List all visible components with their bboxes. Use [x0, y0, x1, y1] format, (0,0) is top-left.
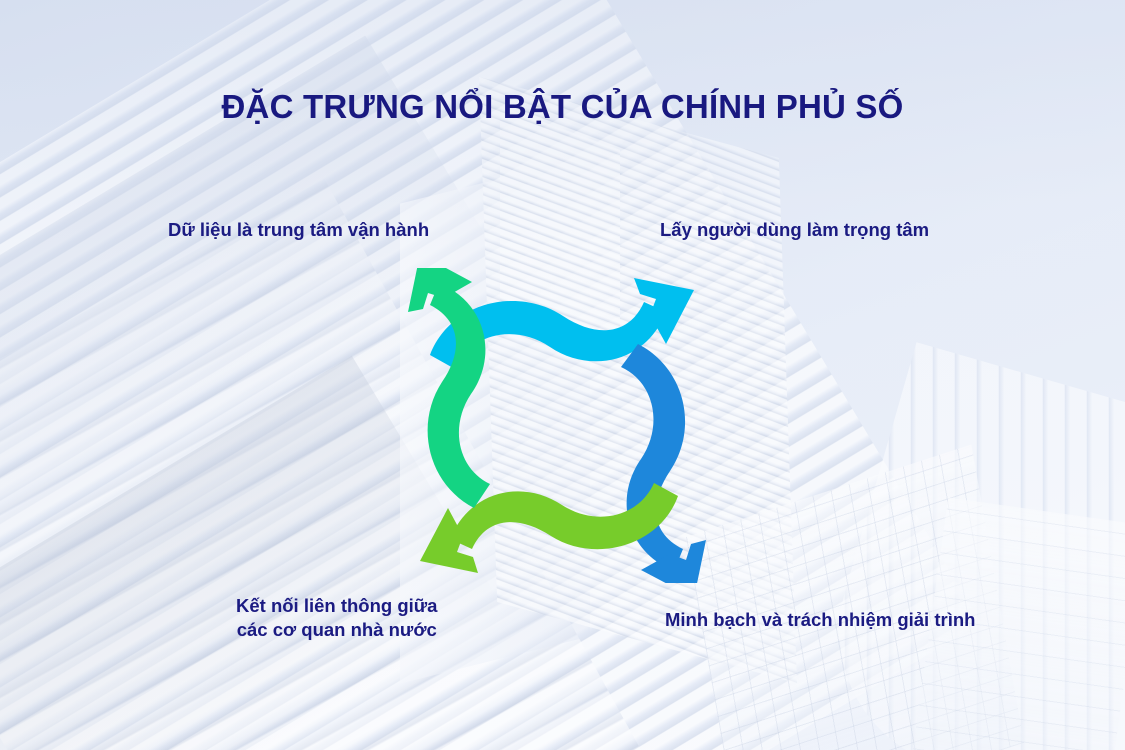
cycle-label-interconnection: Kết nối liên thông giữa các cơ quan nhà … [236, 594, 437, 643]
slide-canvas: ĐẶC TRƯNG NỔI BẬT CỦA CHÍNH PHỦ SỐ Dữ li… [0, 0, 1125, 750]
building-grid-right-icon [686, 444, 1024, 750]
green-arrow-up-left-icon [408, 268, 490, 508]
cycle-diagram-svg [398, 268, 728, 583]
page-title: ĐẶC TRƯNG NỔI BẬT CỦA CHÍNH PHỦ SỐ [0, 88, 1125, 126]
cycle-label-transparency: Minh bạch và trách nhiệm giải trình [665, 608, 975, 632]
cycle-diagram [398, 268, 728, 583]
cycle-label-data-center: Dữ liệu là trung tâm vận hành [168, 218, 429, 242]
blue-arrow-down-right-icon [621, 344, 706, 583]
building-glass-right-icon [806, 342, 1125, 750]
cycle-label-user-center: Lấy người dùng làm trọng tâm [660, 218, 929, 242]
